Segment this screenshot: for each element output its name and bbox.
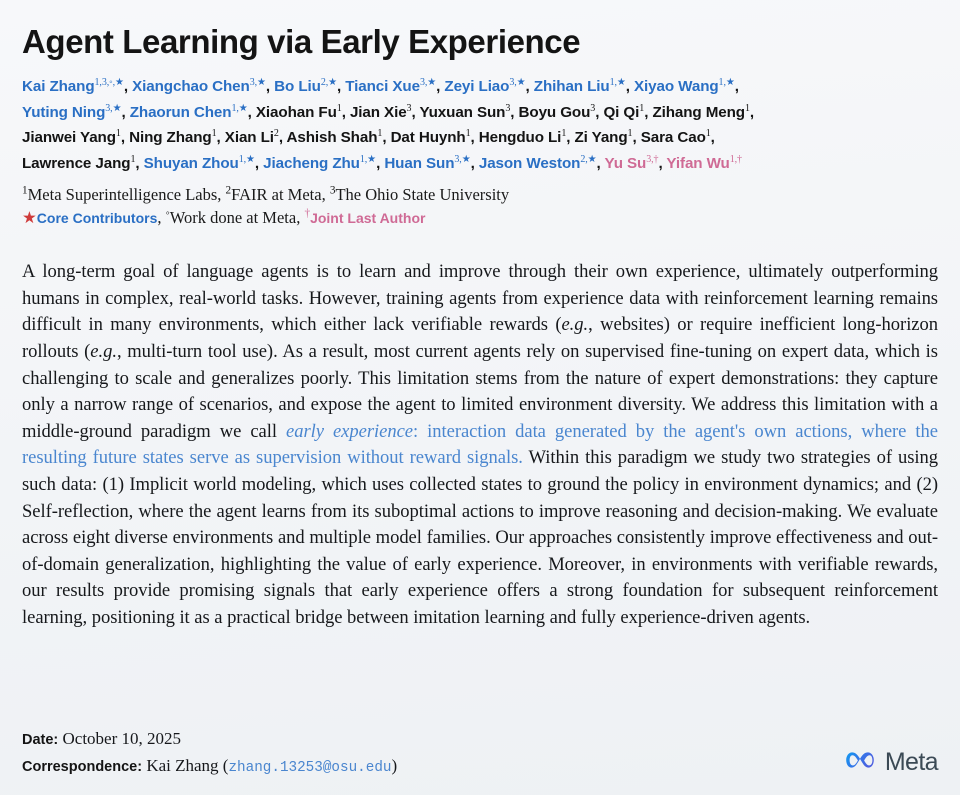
date-label: Date:	[22, 732, 58, 748]
author-name: Xiyao Wang1,★	[634, 78, 735, 95]
author-separator: ,	[711, 129, 715, 146]
author-separator: ,	[342, 104, 350, 121]
author-name: Xian Li2	[225, 129, 279, 146]
author-name: Zeyi Liao3,★	[444, 78, 525, 95]
correspondence-email-link[interactable]: zhang.13253@osu.edu	[228, 760, 391, 776]
author-name: Dat Huynh1	[391, 129, 471, 146]
author-affiliation-marker: 1,★	[719, 77, 735, 88]
affiliation-name: The Ohio State University	[335, 185, 509, 204]
meta-brand: Meta	[844, 748, 938, 777]
author-list: Kai Zhang1,3,◦,★, Xiangchao Chen3,★, Bo …	[22, 74, 938, 176]
author-name: Jiacheng Zhu1,★	[263, 155, 376, 172]
author-name: Zhaorun Chen1,★	[130, 104, 248, 121]
author-name: Zi Yang1	[574, 129, 632, 146]
correspondence-name: Kai Zhang	[146, 756, 218, 775]
author-affiliation-marker: 1,★	[360, 154, 376, 165]
author-separator: ,	[121, 129, 129, 146]
author-name: Sara Cao1	[641, 129, 711, 146]
abstract-text: A long-term goal of language agents is t…	[22, 259, 938, 631]
author-name: Huan Sun3,★	[384, 155, 470, 172]
author-name: Jianwei Yang1	[22, 129, 121, 146]
author-affiliation-marker: 1,★	[231, 103, 247, 114]
author-name: Jian Xie3	[350, 104, 412, 121]
author-affiliation-marker: 1,★	[610, 77, 626, 88]
author-name: Yuxuan Sun3	[419, 104, 510, 121]
author-affiliation-marker: 3,†	[646, 154, 658, 165]
author-line: Yuting Ning3,★, Zhaorun Chen1,★, Xiaohan…	[22, 100, 938, 126]
author-line: Jianwei Yang1, Ning Zhang1, Xian Li2, As…	[22, 125, 938, 151]
author-name: Ashish Shah1	[287, 129, 383, 146]
author-affiliation-marker: 3,★	[420, 77, 436, 88]
author-name: Kai Zhang1,3,◦,★	[22, 78, 124, 95]
author-separator: ,	[279, 129, 287, 146]
affiliation-name: Meta Superintelligence Labs,	[28, 185, 226, 204]
abstract-segment: Within this paradigm we study two strate…	[22, 447, 938, 628]
author-name: Boyu Gou3	[519, 104, 596, 121]
author-name: Hengduo Li1	[479, 129, 566, 146]
abstract-emphasis: e.g.	[90, 341, 117, 362]
date-value: October 10, 2025	[63, 729, 182, 748]
abstract-emphasis: e.g.	[561, 314, 588, 335]
author-notes: ★Core Contributors, ◦Work done at Meta, …	[22, 207, 938, 229]
author-affiliation-marker: 1,3,◦,★	[95, 77, 124, 88]
author-line: Lawrence Jang1, Shuyan Zhou1,★, Jiacheng…	[22, 151, 938, 177]
meta-wordmark: Meta	[885, 748, 938, 777]
author-name: Zihang Meng1	[652, 104, 749, 121]
core-contributor-marker: ★	[22, 208, 37, 227]
paper-page: Agent Learning via Early Experience Kai …	[0, 0, 960, 795]
author-name: Yifan Wu1,†	[666, 155, 742, 172]
paper-footer: Date: October 10, 2025 Correspondence: K…	[22, 726, 938, 781]
author-name: Qi Qi1	[603, 104, 644, 121]
joint-last-author-label: Joint Last Author	[310, 210, 425, 226]
author-affiliation-marker: 3,★	[105, 103, 121, 114]
author-affiliation-marker: 3,★	[454, 154, 470, 165]
author-separator: ,	[471, 129, 479, 146]
author-separator: ,	[121, 104, 129, 121]
notes-separator-1: ,	[157, 208, 165, 227]
author-separator: ,	[526, 78, 534, 95]
author-separator: ,	[510, 104, 518, 121]
paren-close: )	[391, 756, 397, 775]
author-line: Kai Zhang1,3,◦,★, Xiangchao Chen3,★, Bo …	[22, 74, 938, 100]
author-separator: ,	[382, 129, 390, 146]
meta-infinity-logo-icon	[844, 749, 878, 776]
author-separator: ,	[471, 155, 479, 172]
author-name: Yu Su3,†	[605, 155, 659, 172]
author-name: Tianci Xue3,★	[345, 78, 436, 95]
author-name: Xiaohan Fu1	[256, 104, 342, 121]
author-separator: ,	[135, 155, 143, 172]
author-separator: ,	[750, 104, 754, 121]
page-title: Agent Learning via Early Experience	[22, 24, 938, 60]
author-affiliation-marker: 2,★	[580, 154, 596, 165]
author-affiliation-marker: 1,†	[730, 154, 742, 165]
author-name: Yuting Ning3,★	[22, 104, 121, 121]
author-separator: ,	[626, 78, 634, 95]
core-contributor-label: Core Contributors	[37, 210, 158, 226]
author-name: Jason Weston2,★	[479, 155, 597, 172]
date-line: Date: October 10, 2025	[22, 726, 938, 753]
affiliation-name: FAIR at Meta,	[231, 185, 330, 204]
author-name: Ning Zhang1	[129, 129, 216, 146]
author-separator: ,	[632, 129, 640, 146]
correspondence-label: Correspondence:	[22, 759, 142, 775]
author-affiliation-marker: 3,★	[250, 77, 266, 88]
author-affiliation-marker: 1,★	[239, 154, 255, 165]
author-affiliation-marker: 2,★	[321, 77, 337, 88]
author-name: Lawrence Jang1	[22, 155, 135, 172]
author-separator: ,	[266, 78, 274, 95]
author-separator: ,	[248, 104, 256, 121]
paren-open: (	[219, 756, 229, 775]
author-name: Zhihan Liu1,★	[534, 78, 626, 95]
author-separator: ,	[217, 129, 225, 146]
author-separator: ,	[255, 155, 263, 172]
author-name: Bo Liu2,★	[274, 78, 337, 95]
affiliation-list: 1Meta Superintelligence Labs, 2FAIR at M…	[22, 184, 938, 206]
correspondence-line: Correspondence: Kai Zhang (zhang.13253@o…	[22, 753, 938, 781]
abstract-key-term: early experience	[286, 421, 413, 442]
author-separator: ,	[124, 78, 132, 95]
author-name: Shuyan Zhou1,★	[144, 155, 255, 172]
author-name: Xiangchao Chen3,★	[132, 78, 266, 95]
author-affiliation-marker: 3,★	[509, 77, 525, 88]
work-done-at-meta-label: Work done at Meta	[170, 208, 297, 227]
author-separator: ,	[735, 78, 739, 95]
author-separator: ,	[597, 155, 605, 172]
